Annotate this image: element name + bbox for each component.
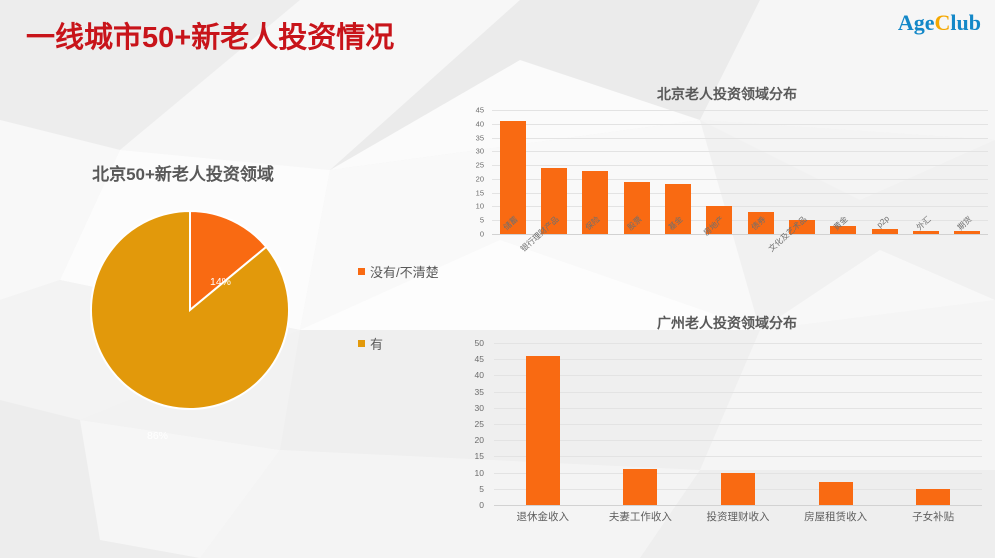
x-axis-tick-label: 投资理财收入 <box>689 509 787 533</box>
bar[interactable] <box>819 482 853 505</box>
bar-slot <box>884 343 982 505</box>
x-axis-tick-label: 退休金收入 <box>494 509 592 533</box>
guangzhou-bar-chart-panel: 广州老人投资领域分布 50454035302520151050 退休金收入夫妻工… <box>462 313 992 543</box>
x-label-slot: 股票 <box>616 210 657 280</box>
y-axis-tick-label: 15 <box>475 452 484 461</box>
slide-canvas: 一线城市50+新老人投资情况 AgeClub 北京50+新老人投资领域 14% … <box>0 0 995 558</box>
y-axis-tick-label: 50 <box>475 339 484 348</box>
x-axis-tick-label: 夫妻工作收入 <box>592 509 690 533</box>
y-axis-tick-label: 30 <box>476 148 484 156</box>
beijing-bar-chart-title: 北京老人投资领域分布 <box>462 84 992 104</box>
legend-swatch-no <box>358 268 365 275</box>
beijing-x-axis-labels: 储蓄银行理财产品保险股票基金房地产债券文化及艺术品黄金p2p外汇期货 <box>492 210 988 280</box>
y-axis-tick-label: 45 <box>475 355 484 364</box>
x-label-slot: 外汇 <box>905 210 946 280</box>
x-axis-tick-label: 股票 <box>625 214 644 233</box>
x-axis-tick-label: 债券 <box>749 214 768 233</box>
x-axis-tick-label: 房屋租赁收入 <box>787 509 885 533</box>
y-axis-tick-label: 20 <box>475 436 484 445</box>
y-axis-tick-label: 40 <box>475 371 484 380</box>
legend-swatch-yes <box>358 340 365 347</box>
guangzhou-plot-area: 50454035302520151050 <box>462 343 992 505</box>
pie-slice-label-yes: 86% <box>147 430 168 442</box>
x-axis-line <box>494 505 982 506</box>
y-axis-tick-label: 40 <box>476 120 484 128</box>
x-axis-tick-label: 子女补贴 <box>884 509 982 533</box>
y-axis-tick-label: 10 <box>476 203 484 211</box>
logo-text-age: Age <box>898 10 935 35</box>
y-axis-tick-label: 25 <box>476 161 484 169</box>
bar[interactable] <box>916 489 950 505</box>
guangzhou-bar-chart-title: 广州老人投资领域分布 <box>462 313 992 333</box>
guangzhou-x-axis-labels: 退休金收入夫妻工作收入投资理财收入房屋租赁收入子女补贴 <box>494 509 982 533</box>
x-label-slot: 保险 <box>575 210 616 280</box>
x-axis-tick-label: 期货 <box>955 214 974 233</box>
x-axis-tick-label: 黄金 <box>831 214 850 233</box>
y-axis-tick-label: 25 <box>475 420 484 429</box>
x-axis-tick-label: 保险 <box>583 214 602 233</box>
bar-slot <box>689 343 787 505</box>
y-axis-tick-label: 5 <box>479 485 484 494</box>
guangzhou-y-axis: 50454035302520151050 <box>462 343 488 505</box>
guangzhou-grid-and-bars <box>494 343 982 505</box>
y-axis-tick-label: 10 <box>475 468 484 477</box>
bar[interactable] <box>721 473 755 505</box>
pie-chart-title: 北京50+新老人投资领域 <box>18 160 348 185</box>
legend-label-yes: 有 <box>370 334 383 353</box>
bar-series <box>494 343 982 505</box>
y-axis-tick-label: 0 <box>479 501 484 510</box>
x-label-slot: 文化及艺术品 <box>781 210 822 280</box>
y-axis-tick-label: 35 <box>476 134 484 142</box>
y-axis-tick-label: 15 <box>476 189 484 197</box>
x-label-slot: 银行理财产品 <box>533 210 574 280</box>
page-title: 一线城市50+新老人投资情况 <box>26 14 394 56</box>
ageclub-logo: AgeClub <box>898 10 981 36</box>
x-label-slot: 黄金 <box>823 210 864 280</box>
y-axis-tick-label: 5 <box>480 216 484 224</box>
logo-text-lub: lub <box>950 10 981 35</box>
y-axis-tick-label: 45 <box>476 106 484 114</box>
bar-slot <box>494 343 592 505</box>
bar-slot <box>592 343 690 505</box>
x-label-slot: 房地产 <box>699 210 740 280</box>
y-axis-tick-label: 20 <box>476 175 484 183</box>
beijing-y-axis: 454035302520151050 <box>462 110 488 234</box>
x-axis-tick-label: 外汇 <box>914 214 933 233</box>
x-axis-tick-label: 储蓄 <box>501 214 520 233</box>
bar[interactable] <box>623 469 657 505</box>
pie-chart-panel: 北京50+新老人投资领域 14% 86% 没有/不清楚 有 <box>18 160 458 450</box>
x-axis-tick-label: p2p <box>875 214 891 230</box>
bar[interactable] <box>526 356 560 505</box>
bar-slot <box>787 343 885 505</box>
pie-slice-label-no: 14% <box>210 276 231 288</box>
x-label-slot: 基金 <box>657 210 698 280</box>
x-axis-tick-label: 房地产 <box>701 214 726 238</box>
y-axis-tick-label: 30 <box>475 404 484 413</box>
logo-text-c: C <box>935 10 951 35</box>
legend-label-no: 没有/不清楚 <box>370 262 439 281</box>
y-axis-tick-label: 0 <box>480 230 484 238</box>
pie-chart-graphic: 14% 86% <box>90 210 290 410</box>
pie-svg <box>90 210 290 410</box>
x-label-slot: p2p <box>864 210 905 280</box>
x-label-slot: 期货 <box>947 210 988 280</box>
y-axis-tick-label: 35 <box>475 387 484 396</box>
beijing-bar-chart-panel: 北京老人投资领域分布 454035302520151050 储蓄银行理财产品保险… <box>462 84 992 302</box>
x-axis-tick-label: 基金 <box>666 214 685 233</box>
